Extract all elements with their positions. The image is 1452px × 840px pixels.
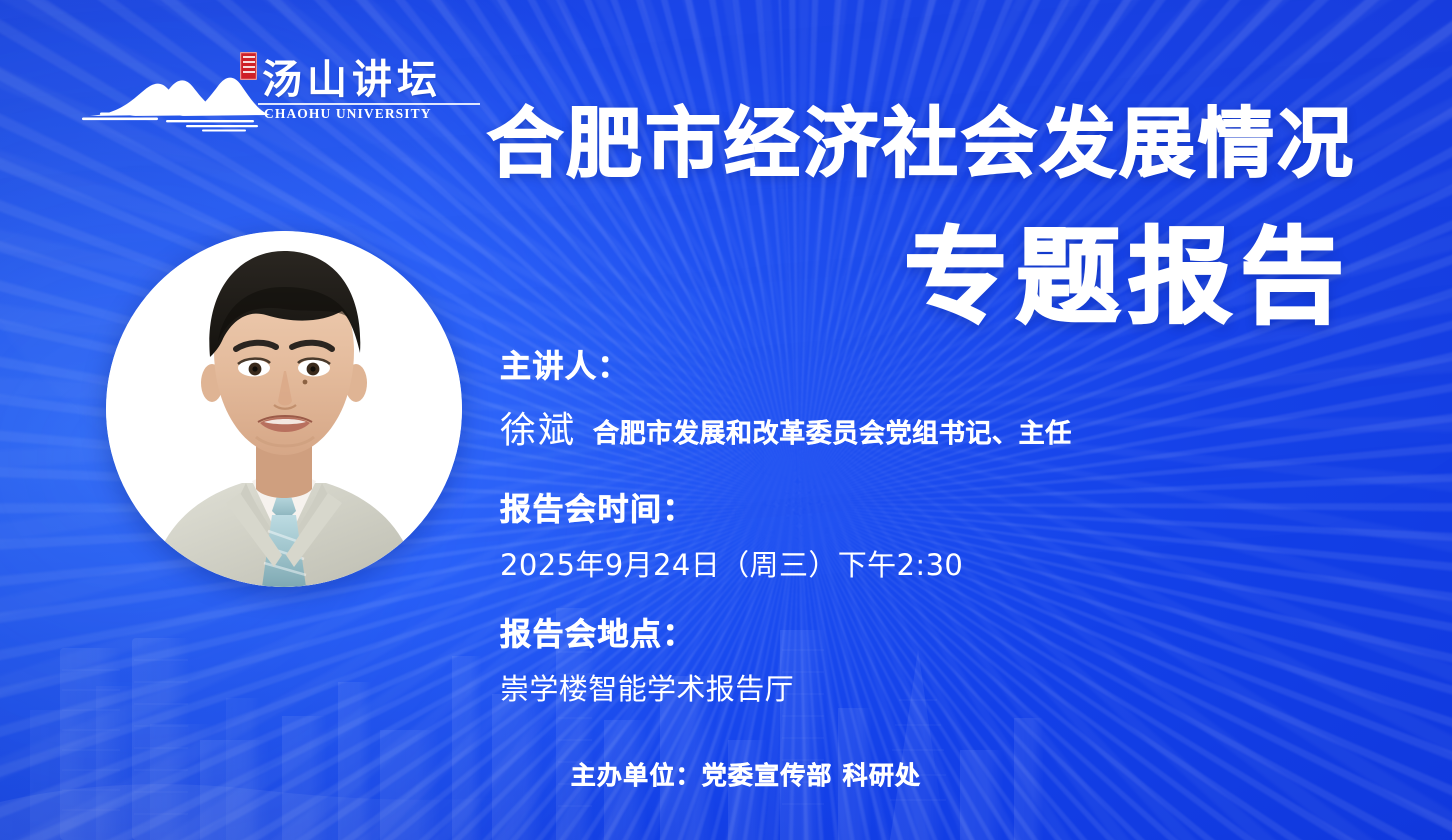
speaker-label: 主讲人： <box>500 348 1260 387</box>
speaker-row: 徐斌 合肥市发展和改革委员会党组书记、主任 <box>500 401 1260 453</box>
time-value: 2025年9月24日（周三）下午2:30 <box>500 542 1260 584</box>
title-line-1: 合肥市经济社会发展情况 <box>376 104 1356 185</box>
time-label: 报告会时间： <box>500 491 1260 530</box>
logo-chinese-name: 汤山讲坛 <box>262 60 442 100</box>
place-value: 崇学楼智能学术报告厅 <box>500 666 1260 708</box>
speaker-portrait <box>106 231 462 587</box>
title-line-2: 专题报告 <box>376 225 1356 329</box>
event-info: 主讲人： 徐斌 合肥市发展和改革委员会党组书记、主任 报告会时间： 2025年9… <box>500 348 1260 708</box>
poster-canvas: 汤山讲坛 CHAOHU UNIVERSITY 合肥市经济社会发展情况 专题报告 <box>0 0 1452 840</box>
place-label: 报告会地点： <box>500 616 1260 655</box>
speaker-title: 合肥市发展和改革委员会党组书记、主任 <box>593 413 1072 450</box>
poster-title: 合肥市经济社会发展情况 专题报告 <box>376 104 1356 329</box>
red-seal-icon <box>240 52 257 80</box>
logo: 汤山讲坛 CHAOHU UNIVERSITY <box>72 54 412 146</box>
organizer-footer: 主办单位：党委宣传部 科研处 <box>0 756 1452 792</box>
speaker-name: 徐斌 <box>500 401 576 453</box>
